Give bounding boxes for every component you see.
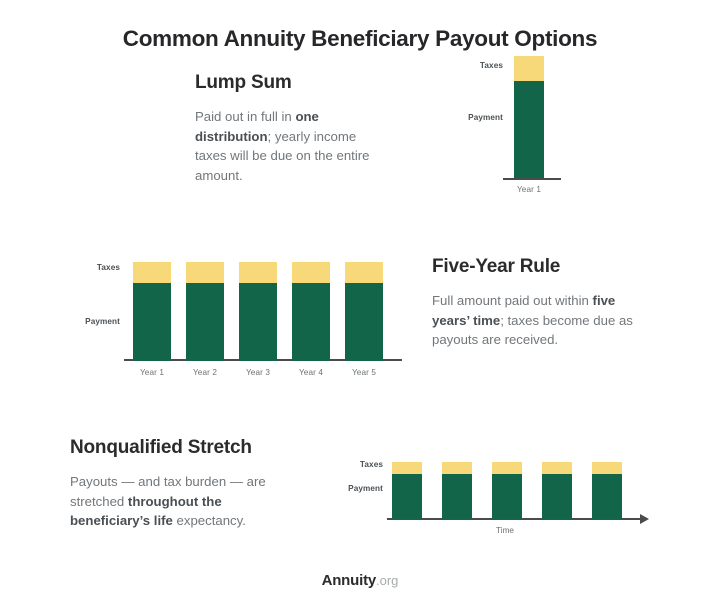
chart-legend-payment: Payment bbox=[335, 484, 383, 493]
brand-tld: .org bbox=[376, 573, 398, 588]
section-body-nonqualified-stretch: Payouts — and tax burden — are stretched… bbox=[70, 472, 298, 531]
bar-payout-1 bbox=[392, 462, 422, 519]
axis-tick-year-4: Year 4 bbox=[286, 368, 336, 377]
section-heading-lump-sum: Lump Sum bbox=[195, 72, 292, 94]
chart-legend-payment: Payment bbox=[455, 113, 503, 122]
bar-year-5 bbox=[345, 262, 383, 361]
bar-payout-5 bbox=[592, 462, 622, 519]
bar-segment-taxes bbox=[345, 262, 383, 283]
chart-legend-taxes: Taxes bbox=[335, 460, 383, 469]
bar-segment-taxes bbox=[186, 262, 224, 283]
bar-payout-2 bbox=[442, 462, 472, 519]
section-heading-nonqualified-stretch: Nonqualified Stretch bbox=[70, 437, 252, 459]
axis-tick-year-1: Year 1 bbox=[127, 368, 177, 377]
chart-baseline bbox=[503, 178, 561, 180]
bar-year-2 bbox=[186, 262, 224, 361]
bar-payout-3 bbox=[492, 462, 522, 519]
page-title: Common Annuity Beneficiary Payout Option… bbox=[0, 26, 720, 52]
bar-segment-taxes bbox=[592, 462, 622, 474]
section-heading-five-year-rule: Five-Year Rule bbox=[432, 256, 560, 278]
brand-name: Annuity bbox=[322, 572, 376, 589]
arrow-right-icon bbox=[640, 514, 649, 524]
footer-logo[interactable]: Annuity.org bbox=[0, 572, 720, 589]
bar-segment-taxes bbox=[492, 462, 522, 474]
axis-tick-year-1: Year 1 bbox=[504, 185, 554, 194]
bar-segment-taxes bbox=[542, 462, 572, 474]
chart-legend-taxes: Taxes bbox=[455, 61, 503, 70]
chart-legend-taxes: Taxes bbox=[72, 263, 120, 272]
section-body-lump-sum: Paid out in full in one distribution; ye… bbox=[195, 107, 375, 185]
nonqualified-stretch-chart: Taxes Payment Time bbox=[335, 455, 655, 545]
section-body-five-year-rule: Full amount paid out within five years’ … bbox=[432, 291, 654, 350]
bar-year-4 bbox=[292, 262, 330, 361]
bar-segment-taxes bbox=[442, 462, 472, 474]
bar-year-1 bbox=[133, 262, 171, 361]
chart-legend-payment: Payment bbox=[72, 317, 120, 326]
axis-tick-year-3: Year 3 bbox=[233, 368, 283, 377]
bar-payout-4 bbox=[542, 462, 572, 519]
bar-segment-taxes bbox=[133, 262, 171, 283]
bar-segment-taxes bbox=[514, 56, 544, 81]
lump-sum-chart: Taxes Payment Year 1 bbox=[455, 58, 655, 193]
bar-year-1 bbox=[514, 56, 544, 178]
axis-tick-year-5: Year 5 bbox=[339, 368, 389, 377]
stretch-text-part2: expectancy. bbox=[173, 513, 246, 528]
lump-sum-text-part1: Paid out in full in bbox=[195, 109, 295, 124]
bar-segment-taxes bbox=[292, 262, 330, 283]
five-year-text-part1: Full amount paid out within bbox=[432, 293, 593, 308]
axis-title-time: Time bbox=[465, 526, 545, 535]
infographic-canvas: Common Annuity Beneficiary Payout Option… bbox=[0, 0, 720, 610]
five-year-rule-chart: Taxes Payment Year 1 Year 2 Year 3 Year … bbox=[72, 258, 402, 383]
bar-segment-taxes bbox=[239, 262, 277, 283]
axis-tick-year-2: Year 2 bbox=[180, 368, 230, 377]
bar-year-3 bbox=[239, 262, 277, 361]
bar-segment-taxes bbox=[392, 462, 422, 474]
